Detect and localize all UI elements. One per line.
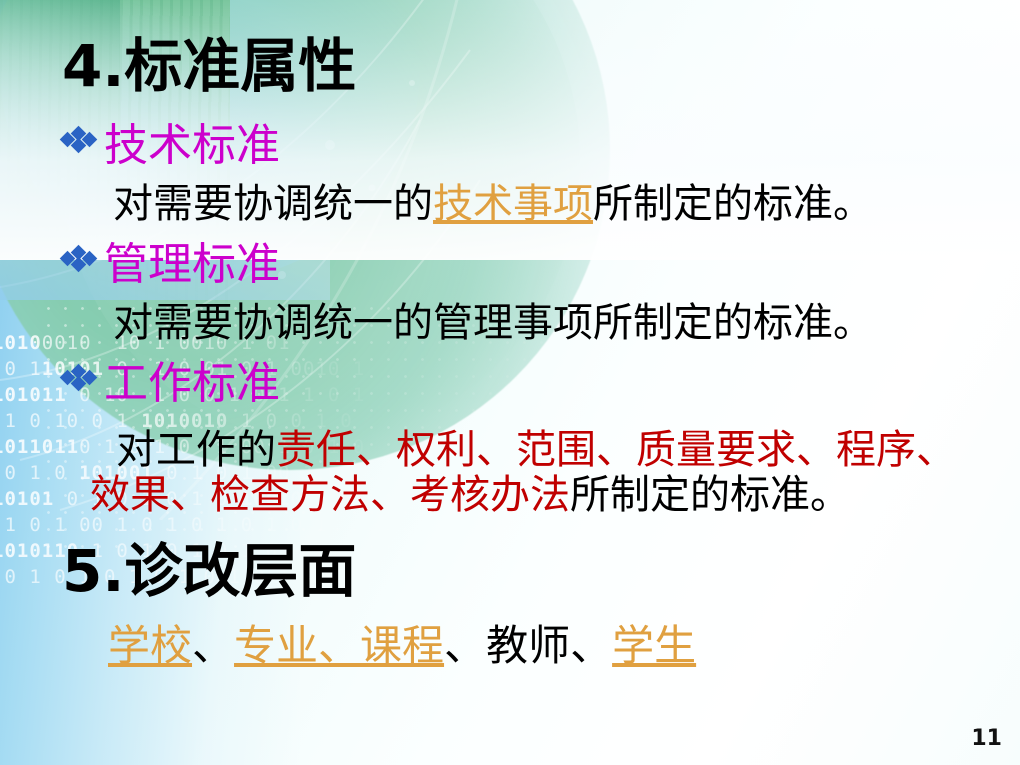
body-text-work: 对工作的责任、权利、范围、质量要求、程序、效果、检查方法、考核办法所制定的标准。	[90, 428, 970, 518]
diamond-cluster-bullet-icon	[62, 369, 96, 399]
body-prefix-technical: 对需要协调统一的	[113, 181, 433, 226]
level-sep-2: 、	[444, 624, 486, 670]
body-prefix-management: 对需要协调统一的管理事项所制定的标准。	[113, 300, 873, 345]
bullet-heading-management: 管理标准	[104, 243, 280, 287]
page-number: 11	[971, 726, 1002, 751]
section-4-title: 4.标准属性	[62, 37, 356, 95]
diagnosis-levels-line: 学校、专业、课程、教师、学生	[108, 626, 696, 668]
body-prefix-work: 对工作的	[116, 427, 276, 472]
bullet-item-management: 管理标准	[62, 243, 280, 287]
slide-content: 4.标准属性 技术标准 对需要协调统一的技术事项所制定的标准。 管理标准 对需要…	[0, 0, 1020, 765]
diamond-cluster-bullet-icon	[62, 250, 96, 280]
body-suffix-technical: 所制定的标准。	[593, 181, 873, 226]
highlight-technical-matters: 技术事项	[433, 181, 593, 226]
bullet-item-technical: 技术标准	[62, 124, 280, 168]
level-teacher: 教师	[486, 624, 570, 670]
level-student: 学生	[612, 624, 696, 670]
bullet-heading-work: 工作标准	[104, 362, 280, 406]
level-school: 学校	[108, 624, 192, 670]
level-major-course: 专业、课程	[234, 624, 444, 670]
level-sep-3: 、	[570, 624, 612, 670]
slide-canvas: 10100010 10 1 0010 1 01 0 110101 0 1 0 0…	[0, 0, 1020, 765]
body-text-management: 对需要协调统一的管理事项所制定的标准。	[113, 301, 873, 344]
section-5-title-text: 诊改层面	[124, 537, 356, 605]
bullet-heading-technical: 技术标准	[104, 124, 280, 168]
section-5-number: 5.	[62, 537, 124, 605]
bullet-item-work: 工作标准	[62, 362, 280, 406]
diamond-cluster-bullet-icon	[62, 131, 96, 161]
body-text-technical: 对需要协调统一的技术事项所制定的标准。	[113, 182, 873, 225]
section-5-title: 5.诊改层面	[62, 542, 356, 600]
level-sep-1: 、	[192, 624, 234, 670]
section-4-title-text: 标准属性	[124, 32, 356, 100]
section-4-number: 4.	[62, 32, 124, 100]
body-suffix-work: 所制定的标准。	[570, 472, 850, 517]
